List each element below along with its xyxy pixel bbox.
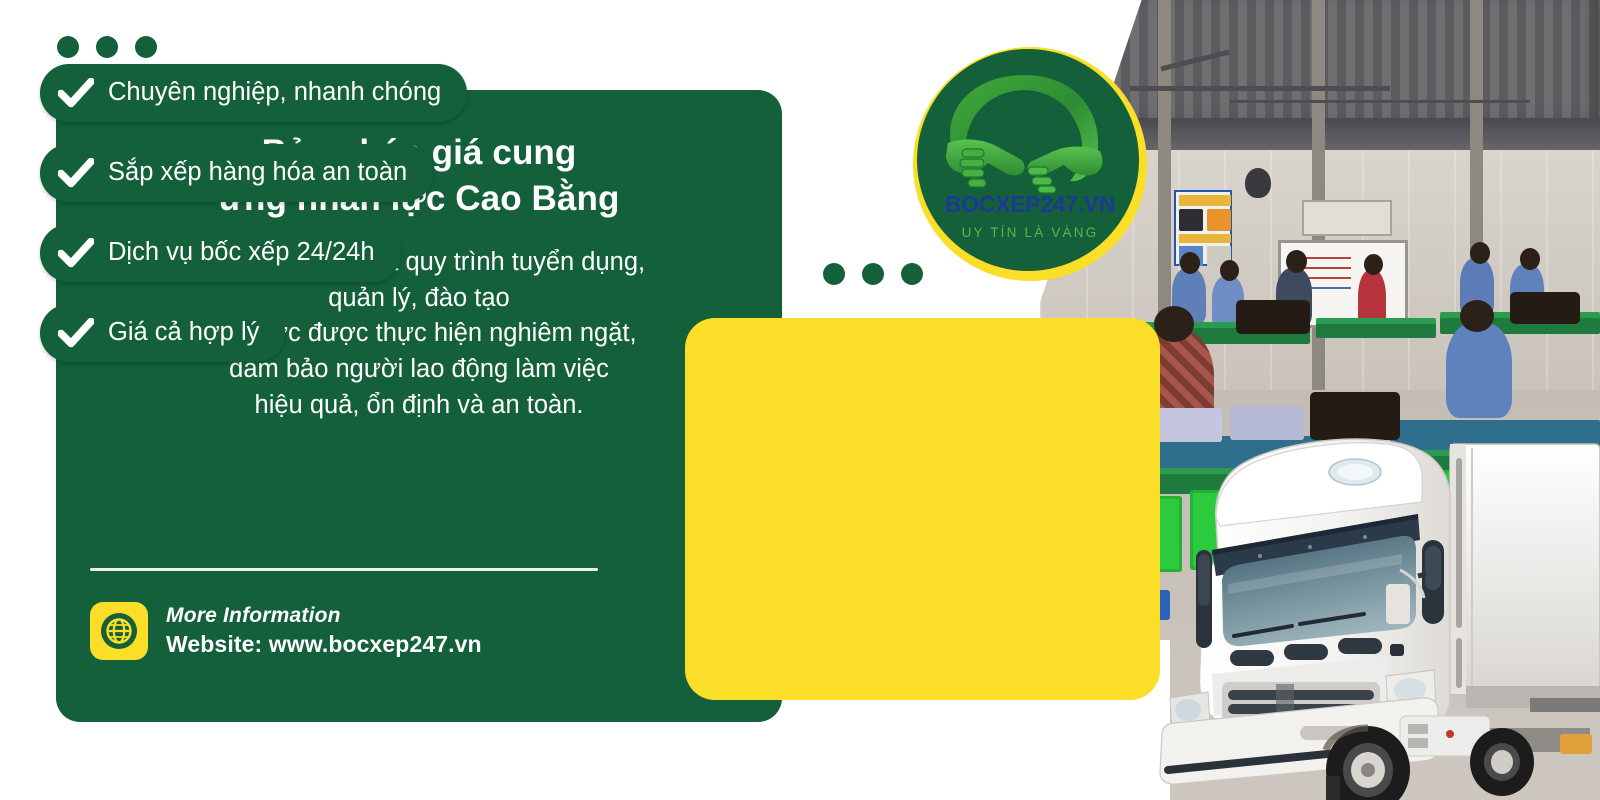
feature-item[interactable]: Dịch vụ bốc xếp 24/24h bbox=[40, 224, 401, 282]
logo-brand-text: BOCXEP247.VN bbox=[913, 191, 1147, 218]
more-information-block: More Information Website: www.bocxep247.… bbox=[90, 602, 482, 660]
divider bbox=[90, 568, 598, 571]
truck-image bbox=[1150, 398, 1600, 800]
more-information-label: More Information bbox=[166, 604, 482, 628]
features-panel bbox=[685, 318, 1160, 700]
feature-item[interactable]: Sắp xếp hàng hóa an toàn bbox=[40, 144, 433, 202]
check-icon bbox=[58, 318, 94, 348]
desc-line-5: hiệu quả, ổn định và an toàn. bbox=[96, 388, 742, 424]
promo-banner: Bảng báo giá cung ứng nhân lực Cao Bằng … bbox=[0, 0, 1600, 800]
company-logo[interactable]: BOCXEP247.VN UY TÍN LÀ VÀNG bbox=[913, 47, 1147, 281]
feature-label: Giá cả hợp lý bbox=[108, 320, 259, 346]
dot bbox=[57, 36, 79, 58]
logo-tagline: UY TÍN LÀ VÀNG bbox=[913, 225, 1147, 240]
decorative-dots-middle bbox=[823, 263, 923, 285]
website-label[interactable]: Website: www.bocxep247.vn bbox=[166, 631, 482, 658]
dot bbox=[96, 36, 118, 58]
dot bbox=[862, 263, 884, 285]
feature-item[interactable]: Giá cả hợp lý bbox=[40, 304, 285, 362]
feature-label: Dịch vụ bốc xếp 24/24h bbox=[108, 240, 375, 266]
decorative-dots-top-left bbox=[57, 36, 157, 58]
check-icon bbox=[58, 158, 94, 188]
dot bbox=[135, 36, 157, 58]
check-icon bbox=[58, 78, 94, 108]
feature-label: Sắp xếp hàng hóa an toàn bbox=[108, 160, 407, 186]
feature-item[interactable]: Chuyên nghiệp, nhanh chóng bbox=[40, 64, 467, 122]
handshake-icon bbox=[940, 69, 1108, 197]
globe-icon bbox=[90, 602, 148, 660]
features-list: Chuyên nghiệp, nhanh chóng Sắp xếp hàng … bbox=[40, 64, 467, 362]
check-icon bbox=[58, 238, 94, 268]
feature-label: Chuyên nghiệp, nhanh chóng bbox=[108, 80, 441, 106]
dot bbox=[823, 263, 845, 285]
